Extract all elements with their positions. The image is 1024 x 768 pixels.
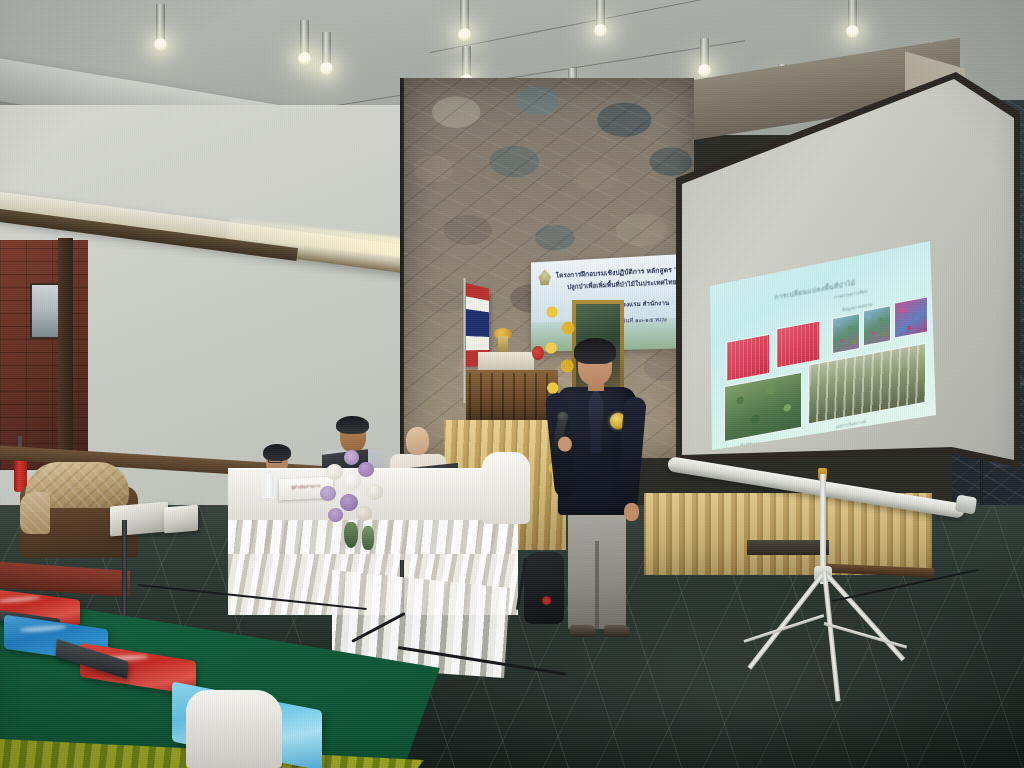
- flower-blossom: [328, 508, 343, 522]
- track-pendant-spotlight: [300, 20, 309, 54]
- field-photo-forest: [724, 372, 802, 442]
- track-pendant-spotlight: [156, 4, 165, 40]
- track-pendant-spotlight: [848, 0, 857, 27]
- flower-blossom: [326, 464, 343, 480]
- flower-blossom: [320, 486, 336, 501]
- table-edge: [0, 586, 450, 596]
- screen-roller-end-cap: [955, 495, 977, 515]
- flower-arrangement: [318, 448, 390, 568]
- ndvi-map-2: [776, 320, 820, 368]
- satellite-patch-3: [894, 296, 928, 338]
- track-pendant-spotlight: [460, 0, 469, 30]
- presenter-hand-left: [557, 436, 572, 452]
- equipment-case-small: [164, 505, 198, 534]
- window-slot: [30, 283, 60, 339]
- projector-case: ·: [110, 501, 168, 536]
- flower-blossom: [344, 450, 359, 465]
- flower-blossom: [340, 494, 358, 511]
- flower-blossom: [356, 506, 372, 521]
- flower-blossom: [366, 484, 383, 500]
- portable-tripod-projection-screen: การเปลี่ยนแปลงพื้นที่ป่าไม้ ภาพถ่ายดาวเท…: [664, 60, 1024, 530]
- presenter-hand-right: [624, 503, 639, 521]
- panelist-right-head: [406, 427, 429, 455]
- speaker-with-microphone: [548, 335, 658, 650]
- backpack: [524, 552, 564, 624]
- photo-scene: โครงการฝึกอบรมเชิงปฏิบัติการ หลักสูตร "ก…: [0, 0, 1024, 768]
- banquet-chair-foreground-2: [186, 690, 282, 768]
- field-photo-plantation: [808, 343, 926, 425]
- presenter-shoe-left: [570, 625, 596, 637]
- track-pendant-spotlight: [596, 0, 605, 26]
- water-glass: [262, 474, 275, 498]
- ndvi-map-1: [726, 334, 770, 382]
- presenter-shoe-right: [604, 625, 630, 637]
- satellite-patch-2: [863, 305, 891, 346]
- presenter-hair: [574, 338, 616, 364]
- royal-emblem-icon: [539, 269, 551, 285]
- track-pendant-spotlight: [322, 32, 331, 64]
- flower-foliage: [362, 526, 374, 550]
- armchair-arm: [20, 492, 50, 534]
- glasses-icon: [268, 459, 282, 463]
- track-pendant-spotlight: [462, 46, 471, 76]
- banquet-chair-centre: [482, 452, 530, 524]
- presenter-trousers: [568, 511, 626, 629]
- brick-panel: [0, 240, 88, 470]
- flower-blossom: [358, 462, 374, 477]
- panelist-centre-hair: [336, 416, 369, 434]
- flower-foliage: [344, 522, 358, 548]
- satellite-patch-1: [832, 313, 860, 354]
- door-jamb: [58, 238, 73, 478]
- flower-blossom: [342, 472, 361, 490]
- screen-roller-tube: [667, 456, 966, 519]
